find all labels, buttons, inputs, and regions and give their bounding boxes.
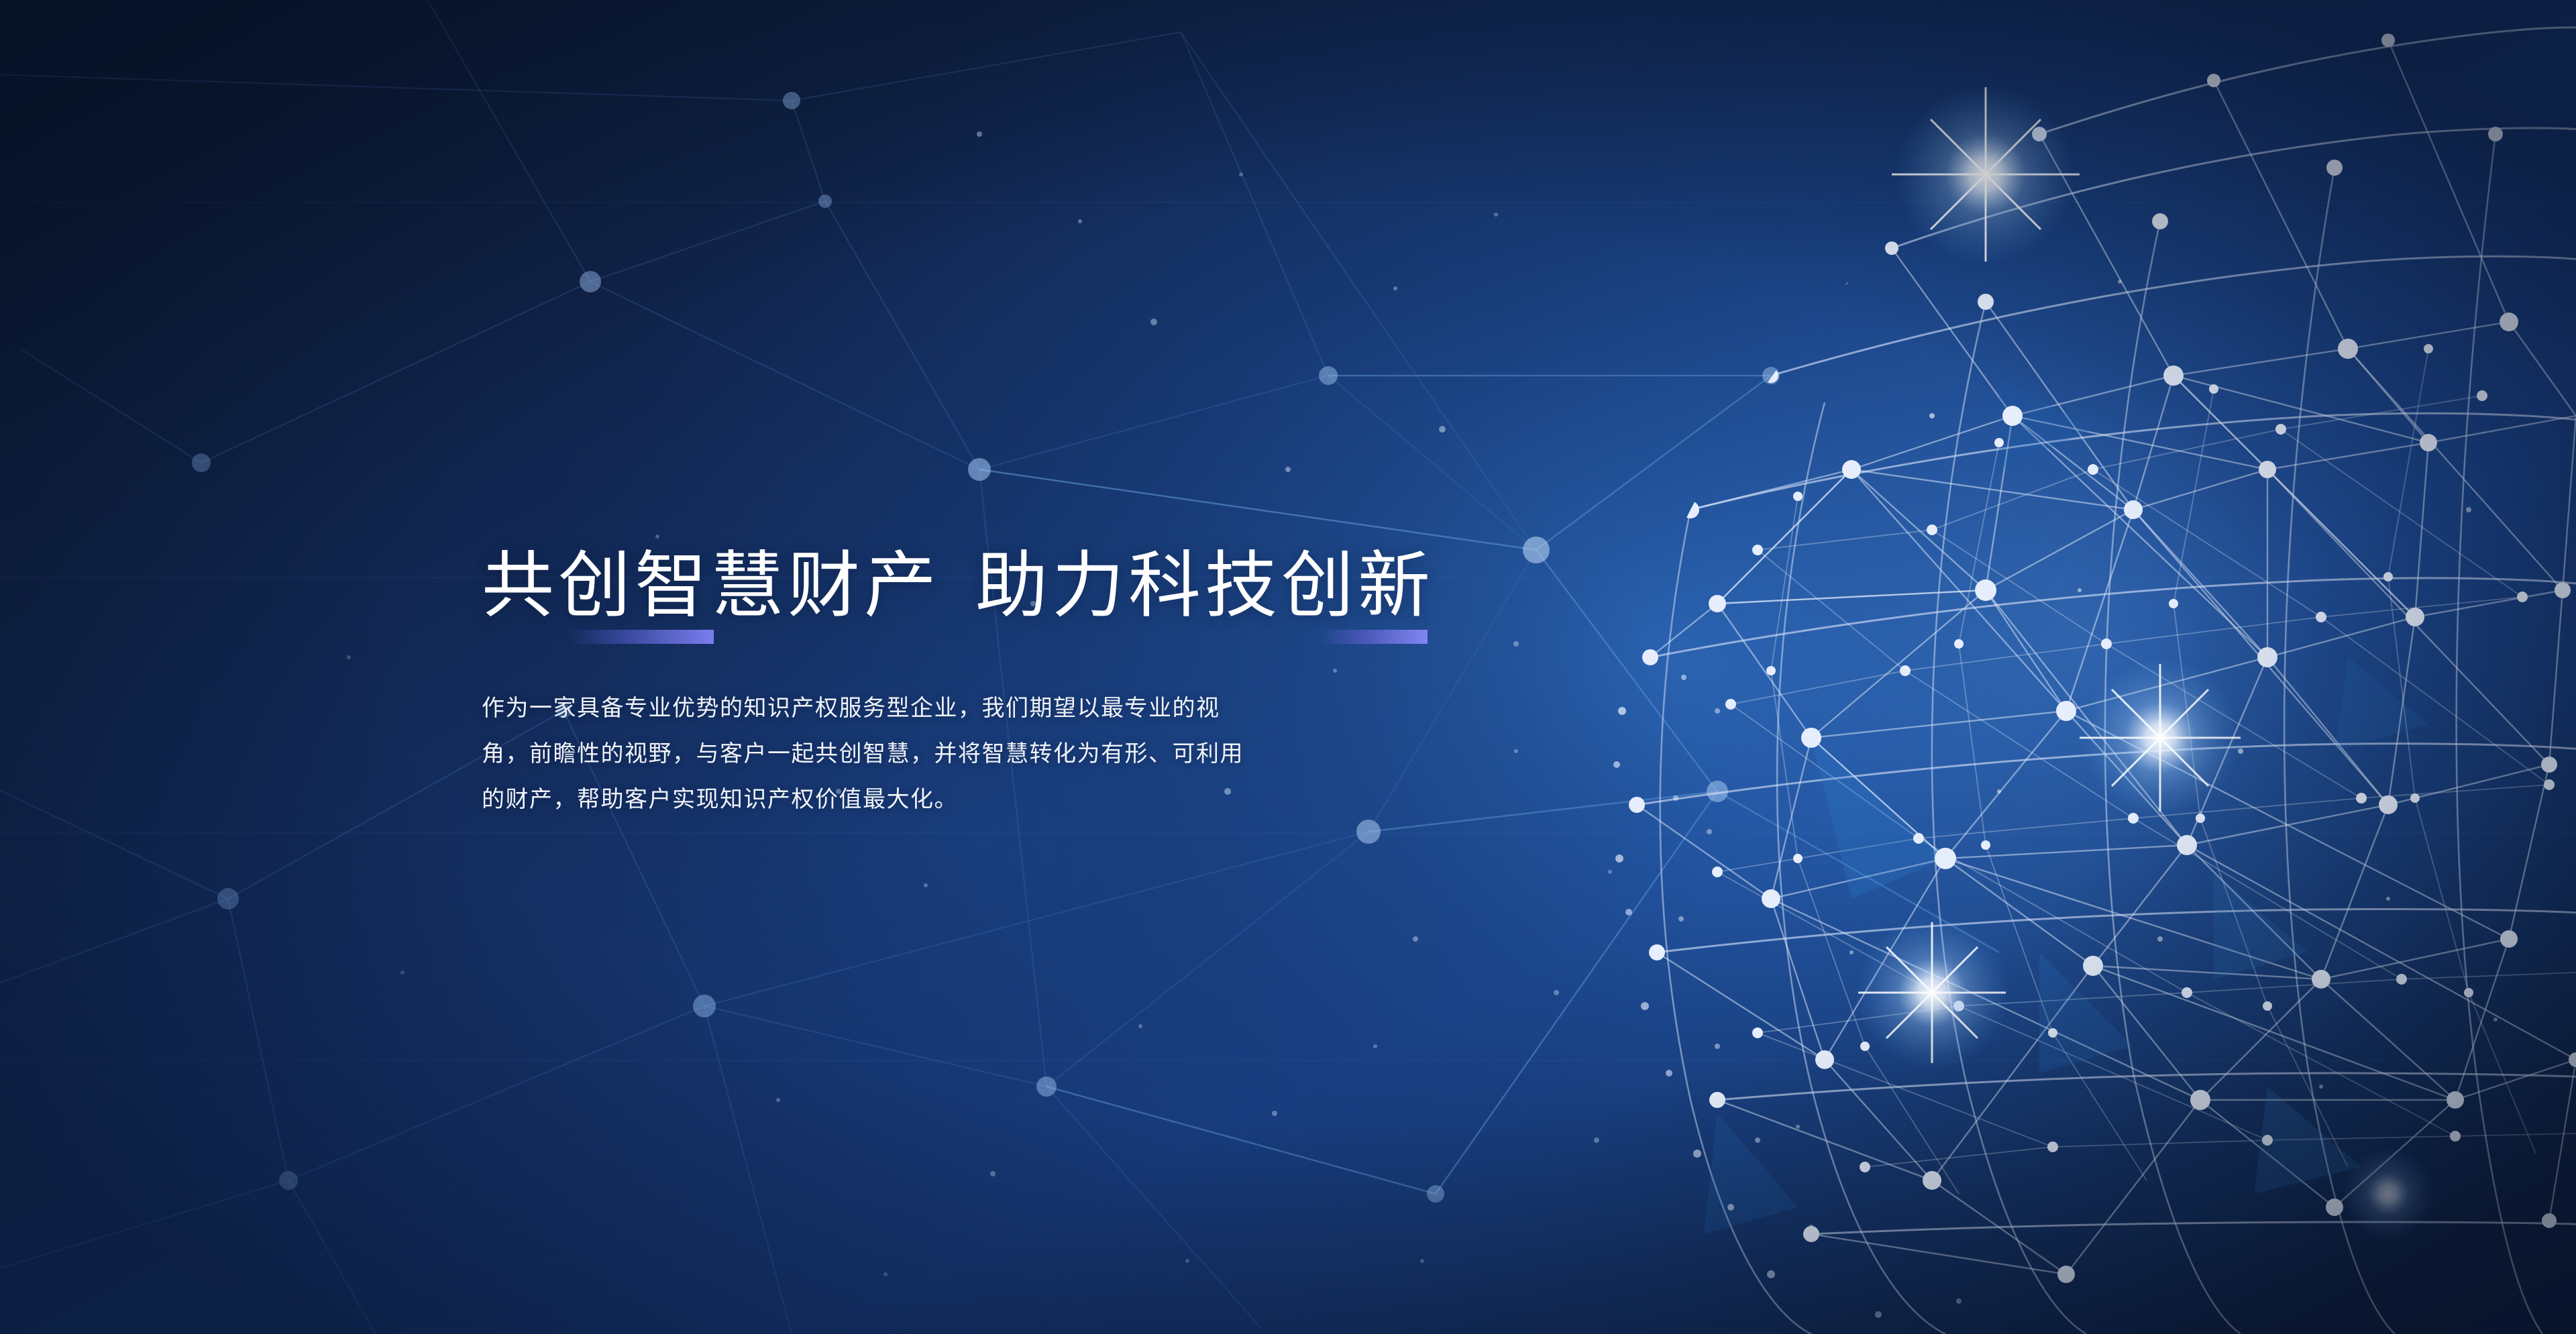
accent-underline-bar-1: [569, 630, 714, 644]
hero-copy-block: 共创智慧财产 助力科技创新 作为一家具备专业优势的知识产权服务型企业，我们期望以…: [482, 547, 1434, 822]
hero-description: 作为一家具备专业优势的知识产权服务型企业，我们期望以最专业的视角，前瞻性的视野，…: [482, 685, 1253, 822]
hero-banner: 共创智慧财产 助力科技创新 作为一家具备专业优势的知识产权服务型企业，我们期望以…: [0, 0, 2576, 1334]
headline-part-1: 共创智慧财产: [482, 547, 941, 624]
headline-part-2: 助力科技创新: [975, 547, 1434, 624]
accent-underline-bar-2: [1320, 630, 1428, 644]
page-title: 共创智慧财产 助力科技创新: [482, 547, 1434, 624]
headline-part-2-group: 助力科技创新: [975, 547, 1434, 624]
headline-part-1-group: 共创智慧财产: [482, 547, 941, 624]
hero-description-text: 作为一家具备专业优势的知识产权服务型企业，我们期望以最专业的视角，前瞻性的视野，…: [482, 685, 1253, 822]
